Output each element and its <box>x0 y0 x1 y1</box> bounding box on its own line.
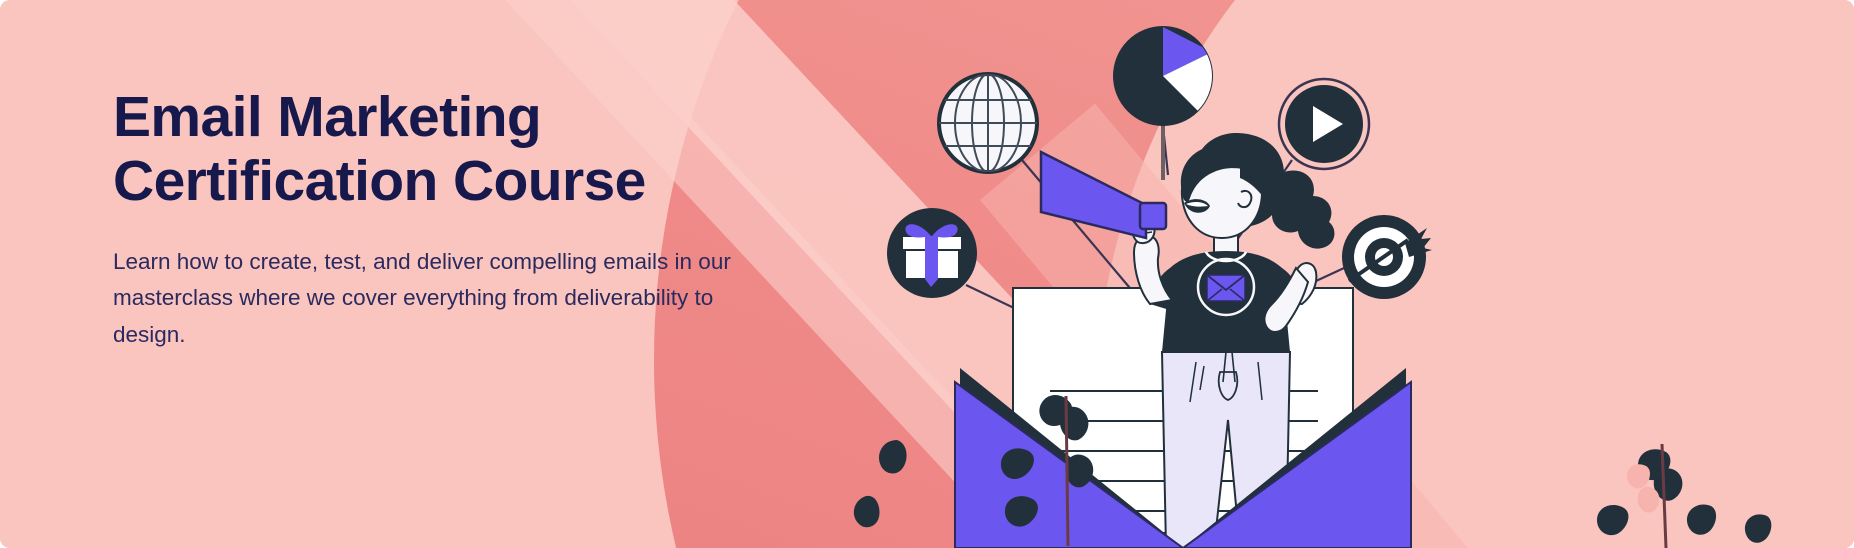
target-icon <box>1342 215 1432 299</box>
leaf-decoration-right <box>1597 444 1771 548</box>
hero-description: Learn how to create, test, and deliver c… <box>113 244 753 353</box>
page-title: Email Marketing Certification Course <box>113 86 813 214</box>
hero-banner: Email Marketing Certification Course Lea… <box>0 0 1854 548</box>
globe-icon <box>939 74 1037 172</box>
gift-icon <box>887 208 977 298</box>
hero-text-column: Email Marketing Certification Course Lea… <box>113 86 813 353</box>
play-icon <box>1279 79 1369 169</box>
megaphone-icon <box>1041 152 1166 238</box>
